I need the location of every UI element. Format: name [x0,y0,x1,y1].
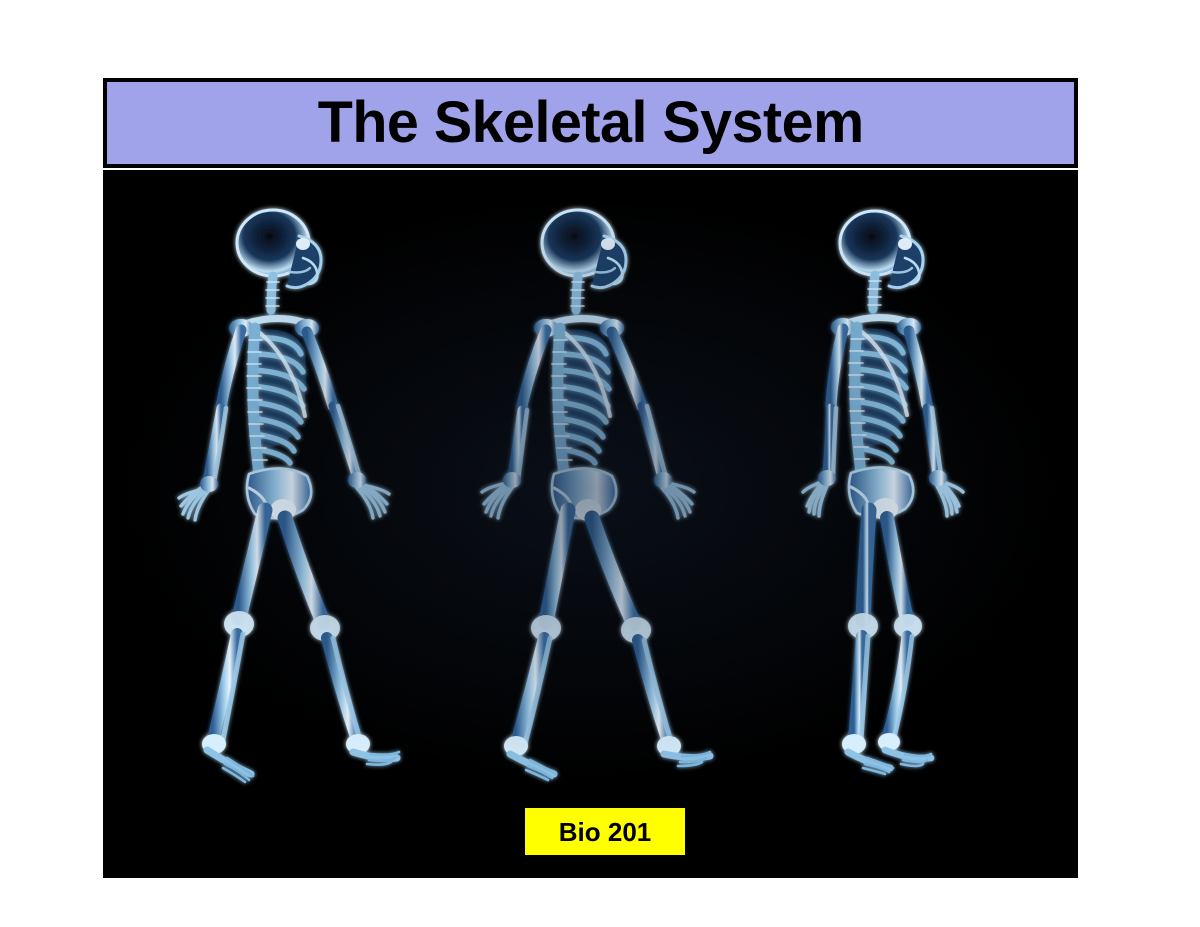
title-banner: The Skeletal System [103,78,1078,168]
course-label-text: Bio 201 [559,819,652,845]
skeleton-figure-right [763,188,1063,848]
course-label-badge: Bio 201 [525,808,685,855]
skeleton-figure-center [458,188,758,848]
skeleton-figure-left [153,188,453,848]
skeleton-xray-photo: Bio 201 [103,170,1078,878]
slide-root: The Skeletal System [0,0,1200,927]
page-title: The Skeletal System [318,94,864,152]
